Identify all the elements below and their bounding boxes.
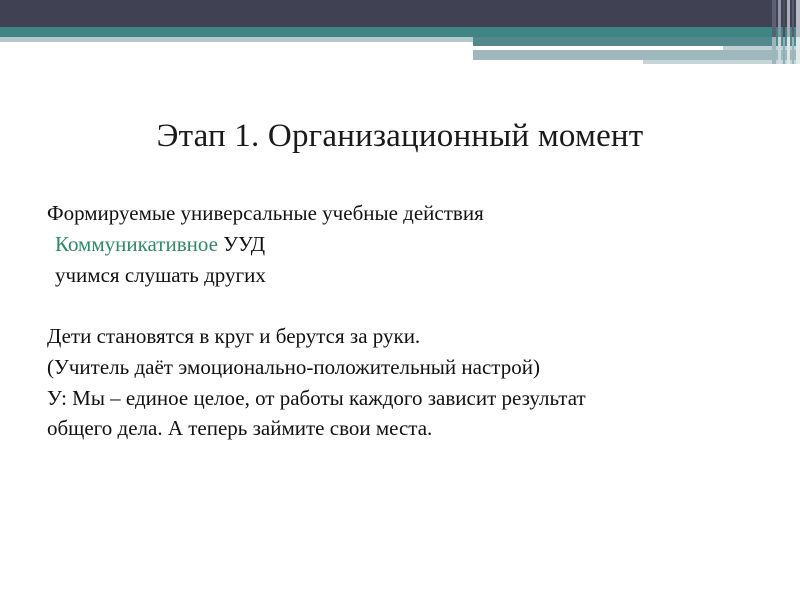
uud-type-accent: Коммуникативное [55, 232, 218, 256]
script-line: общего дела. А теперь займите свои места… [47, 413, 777, 444]
header-band-dark [0, 0, 800, 27]
script-paragraph: Дети становятся в круг и берутся за руки… [47, 321, 777, 444]
header-vstripe-low-5 [792, 37, 794, 64]
header-vstripe-low-6 [796, 37, 800, 64]
header-step-grayblue [473, 50, 800, 60]
header-vstripe-low-1 [772, 37, 776, 64]
header-vstripe-low-2 [778, 37, 781, 64]
slide-title: Этап 1. Организационный момент [0, 118, 800, 155]
slide: Этап 1. Организационный момент Формируем… [0, 0, 800, 600]
header-vstripe-low-3 [783, 37, 785, 64]
header-step-gap-lower [473, 60, 643, 64]
header-band-teal [0, 27, 800, 37]
uud-detail: учимся слушать других [47, 260, 777, 291]
uud-type-line: Коммуникативное УУД [47, 229, 777, 260]
uud-type-suffix: УУД [223, 232, 265, 256]
uud-heading: Формируемые универсальные учебные действ… [47, 198, 777, 229]
script-line: (Учитель даёт эмоционально-положительный… [47, 352, 777, 383]
script-line: У: Мы – единое целое, от работы каждого … [47, 383, 777, 414]
slide-body: Формируемые универсальные учебные действ… [47, 198, 777, 444]
header-step-tail [643, 60, 800, 64]
body-spacer [47, 291, 777, 321]
header-vstripe-low-4 [787, 37, 790, 64]
header-decoration [0, 0, 800, 70]
header-step-teal [473, 37, 800, 46]
script-line: Дети становятся в круг и берутся за руки… [47, 321, 777, 352]
